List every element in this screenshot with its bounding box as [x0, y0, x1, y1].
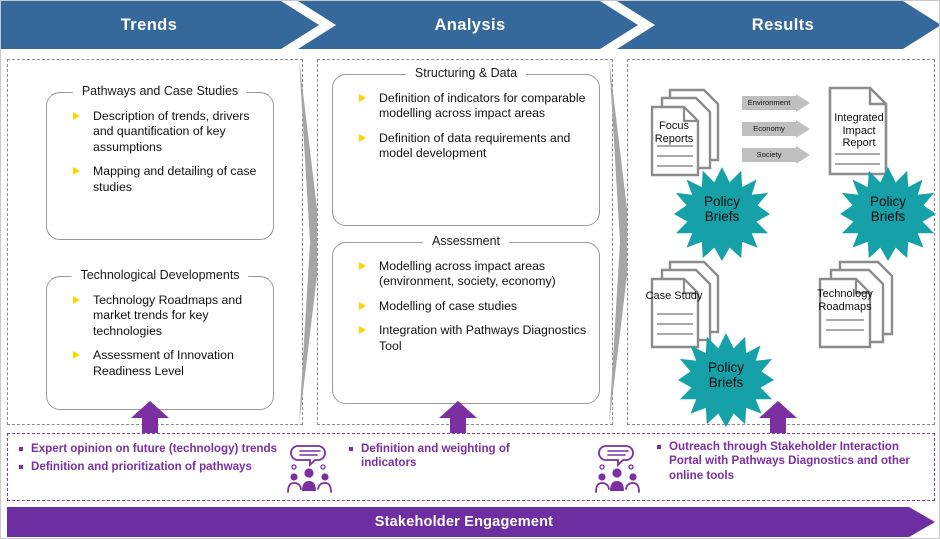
stakeholder-group-results: Outreach through Stakeholder Interaction…: [654, 434, 924, 502]
card-assessment-bullets: Modelling across impact areas (environme…: [333, 243, 599, 362]
card-pathways-and-case-studies: Pathways and Case Studies Description of…: [46, 92, 274, 240]
flow-arrow-environment-label: Environment: [742, 98, 796, 107]
list-item-text: Assessment of Innovation Readiness Level: [93, 348, 234, 377]
triangle-bullet-icon: [73, 351, 80, 359]
list-item: Definition and weighting of indicators: [348, 442, 538, 471]
card-structuring-title: Structuring & Data: [406, 66, 526, 80]
panel-analysis: Structuring & Data Definition of indicat…: [317, 59, 613, 425]
up-arrow-results: [759, 401, 797, 437]
list-item: Mapping and detailing of case studies: [59, 164, 261, 195]
triangle-bullet-icon: [359, 94, 366, 102]
flow-arrow-economy: Economy: [742, 120, 810, 143]
list-item: Definition of indicators for comparable …: [345, 91, 587, 122]
card-technological-developments: Technological Developments Technology Ro…: [46, 276, 274, 410]
document-technology-roadmaps: Technology Roadmaps: [814, 258, 906, 359]
list-item: Description of trends, drivers and quant…: [59, 109, 261, 155]
document-case-study-label: Case Study: [645, 290, 703, 303]
panel-results: Focus Reports Environment Economy Socie: [627, 59, 935, 425]
burst-policy-briefs-1: Policy Briefs: [666, 166, 778, 267]
triangle-bullet-icon: [359, 134, 366, 142]
list-item-text: Technology Roadmaps and market trends fo…: [93, 293, 242, 338]
stakeholder-group-analysis: Definition and weighting of indicators: [346, 434, 538, 502]
stakeholder-group-trends: Expert opinion on future (technology) tr…: [16, 434, 280, 502]
list-item-text: Mapping and detailing of case studies: [93, 164, 256, 193]
stakeholder-engagement-box: Expert opinion on future (technology) tr…: [7, 433, 935, 501]
stakeholder-engagement-bar-label: Stakeholder Engagement: [375, 514, 553, 530]
burst-policy-briefs-2: Policy Briefs: [832, 166, 940, 267]
card-techdev-bullets: Technology Roadmaps and market trends fo…: [47, 277, 273, 387]
list-item: Modelling across impact areas (environme…: [345, 259, 587, 290]
card-techdev-title: Technological Developments: [71, 268, 248, 282]
triangle-bullet-icon: [73, 167, 80, 175]
list-item: Assessment of Innovation Readiness Level: [59, 348, 261, 379]
document-integrated-impact-report-label: Integrated Impact Report: [828, 112, 890, 150]
triangle-bullet-icon: [73, 112, 80, 120]
list-item: Technology Roadmaps and market trends fo…: [59, 293, 261, 339]
list-item: Outreach through Stakeholder Interaction…: [656, 440, 924, 483]
stakeholder-meeting-icon: [592, 442, 644, 494]
up-arrow-trends: [131, 401, 169, 437]
document-focus-reports-label: Focus Reports: [648, 120, 700, 145]
card-assessment-title: Assessment: [423, 234, 509, 248]
card-pathways-title: Pathways and Case Studies: [73, 84, 247, 98]
list-item: Definition and prioritization of pathway…: [18, 460, 280, 474]
card-structuring-bullets: Definition of indicators for comparable …: [333, 75, 599, 170]
flow-arrow-economy-label: Economy: [742, 124, 796, 133]
stakeholder-engagement-bar: Stakeholder Engagement: [7, 507, 935, 537]
list-item-text: Modelling across impact areas (environme…: [379, 259, 556, 288]
phase-step-analysis-label: Analysis: [434, 16, 505, 35]
flow-arrow-society-label: Society: [742, 150, 796, 159]
phase-step-results-label: Results: [752, 16, 814, 35]
flow-arrow-environment: Environment: [742, 94, 810, 117]
card-pathways-bullets: Description of trends, drivers and quant…: [47, 93, 273, 203]
triangle-bullet-icon: [359, 262, 366, 270]
document-technology-roadmaps-label: Technology Roadmaps: [814, 288, 876, 313]
triangle-bullet-icon: [359, 302, 366, 310]
list-item: Integration with Pathways Diagnostics To…: [345, 323, 587, 354]
phase-step-trends[interactable]: Trends: [1, 1, 319, 49]
list-item-text: Integration with Pathways Diagnostics To…: [379, 323, 586, 352]
triangle-bullet-icon: [359, 326, 366, 334]
card-structuring-and-data: Structuring & Data Definition of indicat…: [332, 74, 600, 226]
panel-trends: Pathways and Case Studies Description of…: [7, 59, 303, 425]
list-item-text: Definition of data requirements and mode…: [379, 131, 570, 160]
stakeholder-meeting-icon: [284, 442, 336, 494]
list-item-text: Description of trends, drivers and quant…: [93, 109, 250, 154]
list-item: Definition of data requirements and mode…: [345, 131, 587, 162]
phase-header: Trends Analysis Results: [1, 1, 940, 49]
list-item-text: Modelling of case studies: [379, 299, 517, 313]
triangle-bullet-icon: [73, 296, 80, 304]
phase-step-trends-label: Trends: [121, 16, 178, 35]
process-diagram: Trends Analysis Results Pathways and Cas…: [0, 0, 940, 539]
list-item: Expert opinion on future (technology) tr…: [18, 442, 280, 456]
list-item: Modelling of case studies: [345, 299, 587, 314]
phase-step-results[interactable]: Results: [617, 1, 940, 49]
list-item-text: Definition of indicators for comparable …: [379, 91, 585, 120]
card-assessment: Assessment Modelling across impact areas…: [332, 242, 600, 404]
up-arrow-analysis: [439, 401, 477, 437]
phase-step-analysis[interactable]: Analysis: [298, 1, 638, 49]
